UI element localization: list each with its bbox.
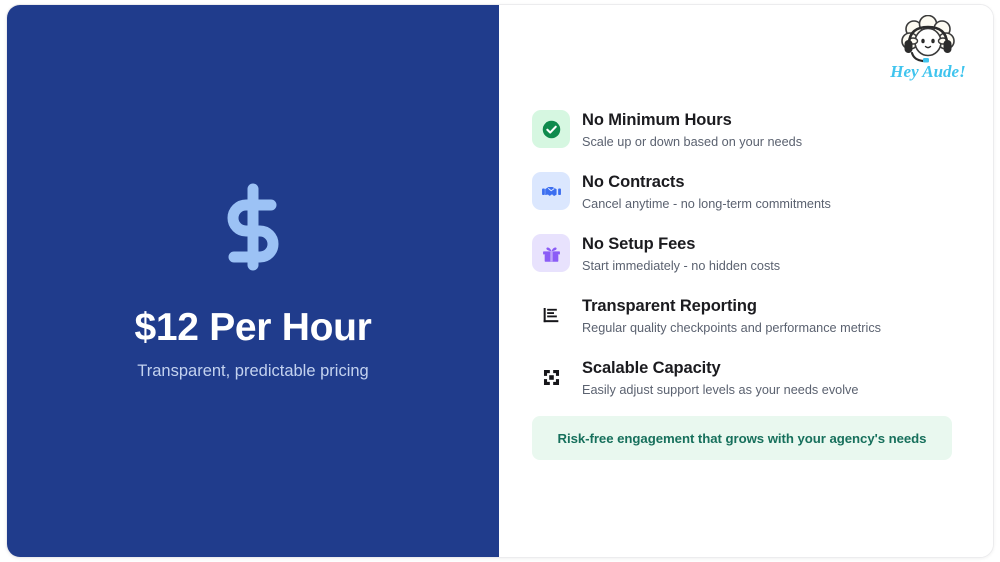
feature-title: No Minimum Hours: [582, 110, 802, 131]
feature-item-no-minimum-hours: No Minimum Hours Scale up or down based …: [532, 109, 957, 153]
feature-item-no-setup-fees: No Setup Fees Start immediately - no hid…: [532, 233, 957, 277]
feature-description: Regular quality checkpoints and performa…: [582, 320, 881, 337]
feature-description: Scale up or down based on your needs: [582, 134, 802, 151]
feature-title: Transparent Reporting: [582, 296, 881, 317]
feature-description: Cancel anytime - no long-term commitment…: [582, 196, 831, 213]
feature-text: Scalable Capacity Easily adjust support …: [582, 357, 858, 398]
price-subtitle: Transparent, predictable pricing: [137, 362, 368, 381]
risk-free-banner: Risk-free engagement that grows with you…: [532, 416, 952, 460]
price-panel: $12 Per Hour Transparent, predictable pr…: [7, 5, 499, 557]
feature-title: Scalable Capacity: [582, 358, 858, 379]
feature-text: No Setup Fees Start immediately - no hid…: [582, 233, 780, 274]
price-headline: $12 Per Hour: [134, 307, 371, 350]
bar-chart-icon: [532, 296, 570, 334]
features-panel: Hey Aude! No Minimum Hours Scale up or d…: [499, 5, 993, 557]
feature-text: Transparent Reporting Regular quality ch…: [582, 295, 881, 336]
feature-item-scalable-capacity: Scalable Capacity Easily adjust support …: [532, 357, 957, 401]
feature-text: No Contracts Cancel anytime - no long-te…: [582, 171, 831, 212]
feature-title: No Setup Fees: [582, 234, 780, 255]
check-circle-icon: [532, 110, 570, 148]
feature-item-no-contracts: No Contracts Cancel anytime - no long-te…: [532, 171, 957, 215]
risk-free-banner-text: Risk-free engagement that grows with you…: [558, 431, 927, 446]
feature-description: Start immediately - no hidden costs: [582, 258, 780, 275]
logo-wordmark: Hey Aude!: [890, 62, 966, 81]
feature-description: Easily adjust support levels as your nee…: [582, 382, 858, 399]
handshake-icon: [532, 172, 570, 210]
feature-item-transparent-reporting: Transparent Reporting Regular quality ch…: [532, 295, 957, 339]
feature-title: No Contracts: [582, 172, 831, 193]
gift-icon: [532, 234, 570, 272]
feature-text: No Minimum Hours Scale up or down based …: [582, 109, 802, 150]
expand-arrows-icon: [532, 358, 570, 396]
pricing-card: $12 Per Hour Transparent, predictable pr…: [6, 4, 994, 558]
feature-list: No Minimum Hours Scale up or down based …: [532, 109, 957, 419]
dollar-sign-icon: [213, 181, 293, 273]
hey-aude-logo: Hey Aude!: [890, 15, 966, 81]
